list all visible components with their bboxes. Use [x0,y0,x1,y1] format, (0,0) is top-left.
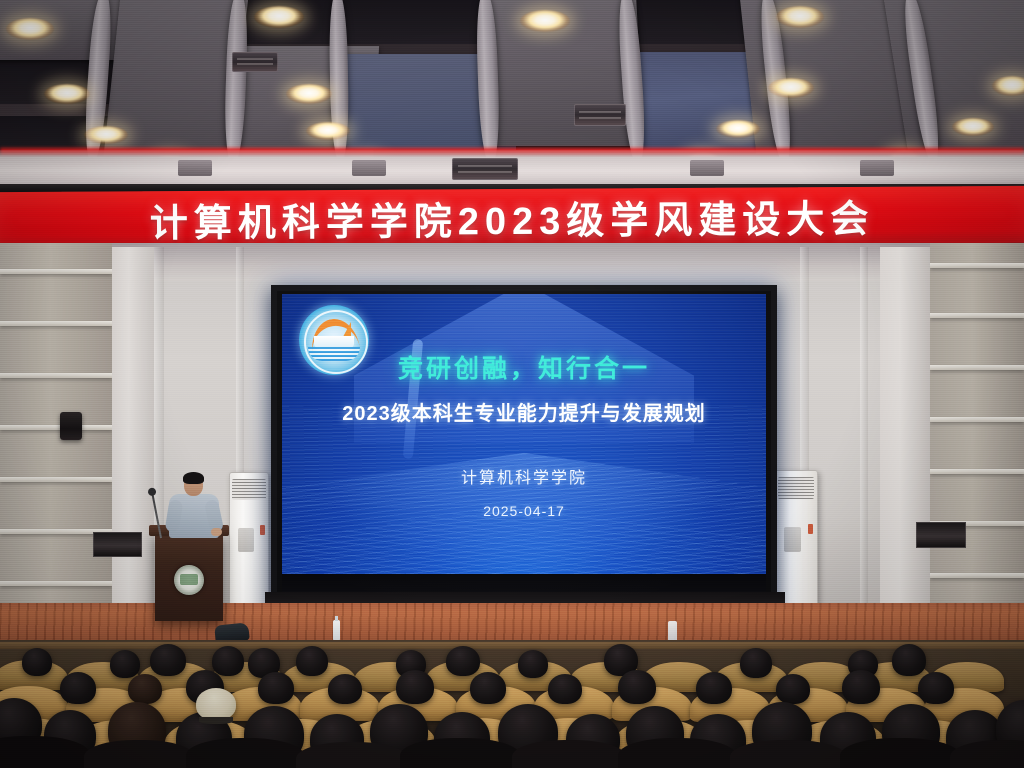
seat-row-rail [0,642,1024,649]
attendee-head [150,644,186,676]
ceiling-air-vent [232,52,278,72]
attendee-head [296,646,328,676]
led-presentation-screen[interactable]: 竞研创融，知行合一 2023级本科生专业能力提升与发展规划 计算机科学学院 20… [271,285,777,627]
water-bottle [333,620,340,642]
soffit-fixture [690,160,724,176]
attendee-head [548,674,582,704]
banner-text: 计算机科学学院2023级学风建设大会 [150,188,875,247]
water-bottle [668,621,677,642]
speaking-podium [155,533,223,621]
attendee-head [258,672,294,704]
auditorium-photo-scene: 计算机科学学院2023级学风建设大会 [0,0,1024,768]
ac-grill [232,479,265,500]
attendee-head [446,646,480,676]
recessed-downlight [286,84,332,104]
slide-surface: 竞研创融，知行合一 2023级本科生专业能力提升与发展规划 计算机科学学院 20… [282,294,766,574]
attendee-head [618,670,656,704]
ac-display-panel [784,527,801,552]
soffit-fixture [178,160,212,176]
recessed-downlight [254,6,304,28]
left-acoustic-slat-wall [0,243,112,633]
right-acoustic-slat-wall [930,243,1024,633]
attendee-shoulders [730,740,846,768]
ac-indicator-light [808,524,813,534]
podium-university-seal [174,565,204,595]
attendee-head [128,674,162,704]
recessed-downlight [520,10,570,32]
attendee-head [396,670,434,704]
ac-grill [778,477,815,499]
attendee-head [892,644,926,676]
attendee-shoulders [186,738,304,768]
soffit-fixture [860,160,894,176]
conference-banner: 计算机科学学院2023级学风建设大会 [0,186,1024,249]
ac-indicator-light [260,525,265,535]
presenter-hand [211,528,222,536]
attendee-head [918,672,954,704]
attendee-head [696,672,732,704]
soffit-fixture [352,160,386,176]
ceiling-air-vent [452,158,518,180]
presenter-hair [183,472,204,484]
attendee-shoulders [512,740,626,768]
attendee-shoulders [618,738,736,768]
attendee-head [60,672,96,704]
attendee-head [842,670,880,704]
attendee-head [518,650,548,678]
attendee-head [22,648,52,676]
recessed-downlight [952,118,994,136]
attendee-shoulders [400,738,520,768]
recessed-downlight [768,78,814,98]
attendee-shoulders [840,738,960,768]
attendee-head [212,646,244,676]
attendee-head [328,674,362,704]
presenter-at-podium [168,474,220,538]
attendee-shoulders [84,740,194,768]
wall-mounted-speaker [60,412,82,440]
recessed-downlight [84,126,128,144]
recessed-downlight [716,120,760,138]
ceiling-air-vent [574,104,626,126]
slide-art-wave-lines [282,406,766,507]
attendee-shoulders [296,742,408,768]
wall-pillar [112,247,154,625]
emblem-water [308,347,360,361]
wall-pillar [880,247,930,625]
recessed-downlight [992,76,1024,96]
wall-seam [860,247,868,625]
seated-student-audience [0,640,1024,768]
recessed-downlight [44,84,90,104]
attendee-head [776,674,810,704]
wall-recessed-speaker [916,522,966,548]
attendee-head [470,672,506,704]
attendee-head-with-cap [196,688,236,720]
ac-display-panel [238,528,253,552]
recessed-downlight [306,122,350,140]
attendee-head [740,648,772,678]
attendee-head [110,650,140,678]
university-emblem-icon [299,305,369,375]
wall-vent [93,532,142,557]
recessed-downlight [776,6,824,28]
recessed-downlight [6,18,54,40]
